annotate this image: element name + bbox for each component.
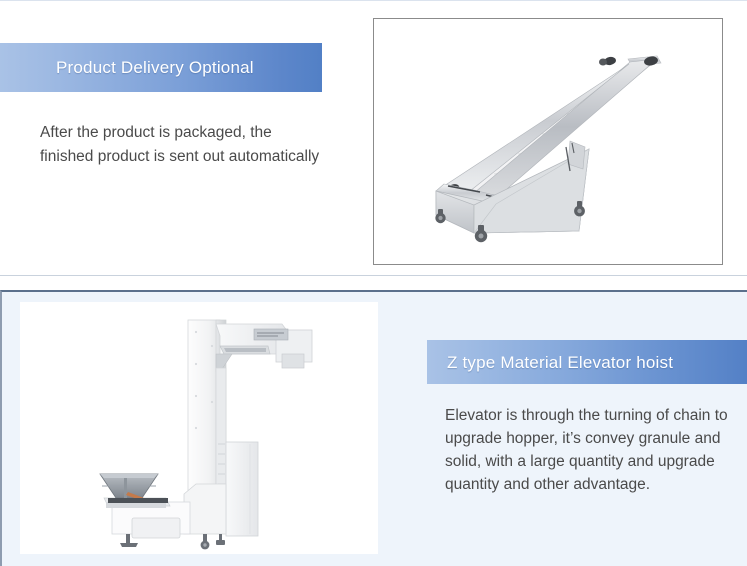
section-one-banner-label: Product Delivery Optional xyxy=(56,59,254,76)
section-one-body-text: After the product is packaged, the finis… xyxy=(40,121,325,169)
page-root: Product Delivery Optional After the prod… xyxy=(0,0,747,566)
section-z-type-material-elevator-hoist: Z type Material Elevator hoist Elevator … xyxy=(0,290,747,566)
z-type-bucket-elevator-photo xyxy=(20,302,378,554)
conveyor-illustration xyxy=(374,19,722,264)
inclined-belt-conveyor-frame xyxy=(373,18,723,265)
section-product-delivery-optional: Product Delivery Optional After the prod… xyxy=(0,0,747,276)
inclined-belt-conveyor-photo xyxy=(374,19,722,264)
section-one-banner: Product Delivery Optional xyxy=(0,43,322,92)
section-one-text-column: Product Delivery Optional After the prod… xyxy=(0,1,360,276)
section-two-body-text: Elevator is through the turning of chain… xyxy=(445,404,735,496)
elevator-illustration xyxy=(20,302,378,554)
section-two-banner: Z type Material Elevator hoist xyxy=(427,340,747,384)
section-two-banner-label: Z type Material Elevator hoist xyxy=(447,354,673,371)
